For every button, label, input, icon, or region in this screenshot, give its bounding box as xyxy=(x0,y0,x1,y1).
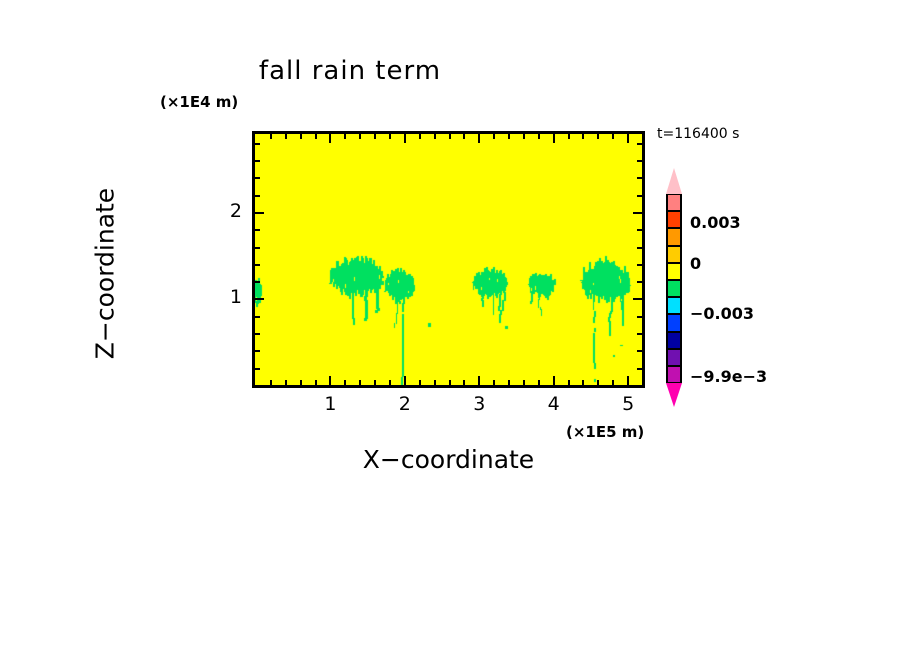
y-tick-left xyxy=(255,316,260,318)
time-annotation: t=116400 s xyxy=(657,126,739,142)
x-tick-bottom xyxy=(553,376,555,385)
y-tick-right xyxy=(633,212,642,214)
x-tick-label: 5 xyxy=(613,393,643,415)
x-tick-label: 4 xyxy=(539,393,569,415)
x-tick-bottom xyxy=(329,376,331,385)
x-tick-bottom xyxy=(300,380,302,385)
x-tick-bottom xyxy=(374,380,376,385)
y-tick-right xyxy=(637,368,642,370)
y-tick-left xyxy=(255,247,260,249)
x-tick-top xyxy=(434,134,436,139)
y-tick-right xyxy=(637,195,642,197)
x-tick-top xyxy=(568,134,570,139)
y-tick-left xyxy=(255,229,260,231)
x-tick-top xyxy=(300,134,302,139)
x-tick-top xyxy=(315,134,317,139)
x-axis-title: X−coordinate xyxy=(252,445,645,474)
x-tick-bottom xyxy=(270,380,272,385)
x-tick-bottom xyxy=(523,380,525,385)
y-tick-right xyxy=(637,247,642,249)
colorbar-band xyxy=(666,366,682,383)
x-tick-top xyxy=(389,134,391,139)
x-tick-bottom xyxy=(582,380,584,385)
y-tick-left xyxy=(255,143,260,145)
figure-canvas: fall rain term (×1E4 m) (×1E5 m) Z−coord… xyxy=(0,0,904,654)
x-tick-label: 3 xyxy=(464,393,494,415)
colorbar-tick-label: 0 xyxy=(690,254,701,273)
x-tick-bottom xyxy=(463,380,465,385)
x-tick-label: 2 xyxy=(390,393,420,415)
x-tick-top xyxy=(612,134,614,139)
x-tick-top xyxy=(627,134,629,143)
y-tick-left xyxy=(255,333,260,335)
x-tick-top xyxy=(463,134,465,139)
x-tick-top xyxy=(344,134,346,139)
y-tick-label: 2 xyxy=(222,200,242,222)
y-tick-left xyxy=(255,264,260,266)
page-title: fall rain term xyxy=(0,56,700,86)
x-tick-top xyxy=(538,134,540,139)
x-tick-bottom xyxy=(285,380,287,385)
x-tick-bottom xyxy=(627,376,629,385)
contour-field xyxy=(255,134,642,385)
x-tick-top xyxy=(285,134,287,139)
x-tick-bottom xyxy=(478,376,480,385)
y-tick-right xyxy=(637,264,642,266)
y-tick-left xyxy=(255,177,260,179)
x-tick-bottom xyxy=(404,376,406,385)
y-tick-right xyxy=(637,281,642,283)
x-tick-bottom xyxy=(359,380,361,385)
y-tick-left xyxy=(255,350,260,352)
x-tick-top xyxy=(359,134,361,139)
y-tick-left xyxy=(255,160,260,162)
x-tick-bottom xyxy=(315,380,317,385)
x-tick-top xyxy=(329,134,331,143)
colorbar-band xyxy=(666,211,682,228)
x-tick-bottom xyxy=(344,380,346,385)
y-tick-right xyxy=(637,350,642,352)
y-tick-right xyxy=(637,333,642,335)
x-tick-bottom xyxy=(449,380,451,385)
x-tick-top xyxy=(523,134,525,139)
x-tick-bottom xyxy=(434,380,436,385)
y-tick-right xyxy=(637,177,642,179)
x-tick-top xyxy=(508,134,510,139)
colorbar-band xyxy=(666,228,682,245)
y-tick-right xyxy=(633,298,642,300)
colorbar-band xyxy=(666,246,682,263)
colorbar-band xyxy=(666,349,682,366)
plot-area xyxy=(252,131,645,388)
x-tick-bottom xyxy=(493,380,495,385)
colorbar-band xyxy=(666,297,682,314)
y-axis-title: Z−coordinate xyxy=(91,124,120,424)
x-tick-bottom xyxy=(538,380,540,385)
colorbar-band xyxy=(666,332,682,349)
y-tick-left xyxy=(255,281,260,283)
y-tick-label: 1 xyxy=(222,286,242,308)
colorbar xyxy=(663,168,685,404)
x-tick-top xyxy=(419,134,421,139)
colorbar-top-cap xyxy=(666,168,682,194)
colorbar-tick-label: −9.9e−3 xyxy=(690,367,767,386)
y-tick-right xyxy=(637,160,642,162)
x-tick-top xyxy=(404,134,406,143)
colorbar-band xyxy=(666,280,682,297)
y-tick-right xyxy=(637,143,642,145)
colorbar-band xyxy=(666,194,682,211)
x-tick-bottom xyxy=(568,380,570,385)
x-tick-bottom xyxy=(419,380,421,385)
x-tick-bottom xyxy=(612,380,614,385)
x-tick-top xyxy=(478,134,480,143)
x-tick-label: 1 xyxy=(315,393,345,415)
colorbar-bottom-cap xyxy=(666,383,682,407)
x-tick-top xyxy=(582,134,584,139)
y-tick-right xyxy=(637,316,642,318)
x-tick-top xyxy=(597,134,599,139)
y-tick-left xyxy=(255,195,260,197)
x-tick-bottom xyxy=(508,380,510,385)
colorbar-band xyxy=(666,263,682,280)
x-axis-unit-caption: (×1E5 m) xyxy=(566,423,644,441)
x-tick-top xyxy=(449,134,451,139)
x-tick-top xyxy=(374,134,376,139)
y-axis-unit-caption: (×1E4 m) xyxy=(160,93,238,111)
x-tick-top xyxy=(493,134,495,139)
x-tick-bottom xyxy=(389,380,391,385)
colorbar-tick-label: 0.003 xyxy=(690,213,741,232)
colorbar-tick-label: −0.003 xyxy=(690,304,754,323)
x-tick-top xyxy=(553,134,555,143)
x-tick-bottom xyxy=(597,380,599,385)
colorbar-band xyxy=(666,314,682,331)
y-tick-left xyxy=(255,298,264,300)
x-tick-top xyxy=(270,134,272,139)
y-tick-left xyxy=(255,368,260,370)
y-tick-right xyxy=(637,229,642,231)
y-tick-left xyxy=(255,212,264,214)
